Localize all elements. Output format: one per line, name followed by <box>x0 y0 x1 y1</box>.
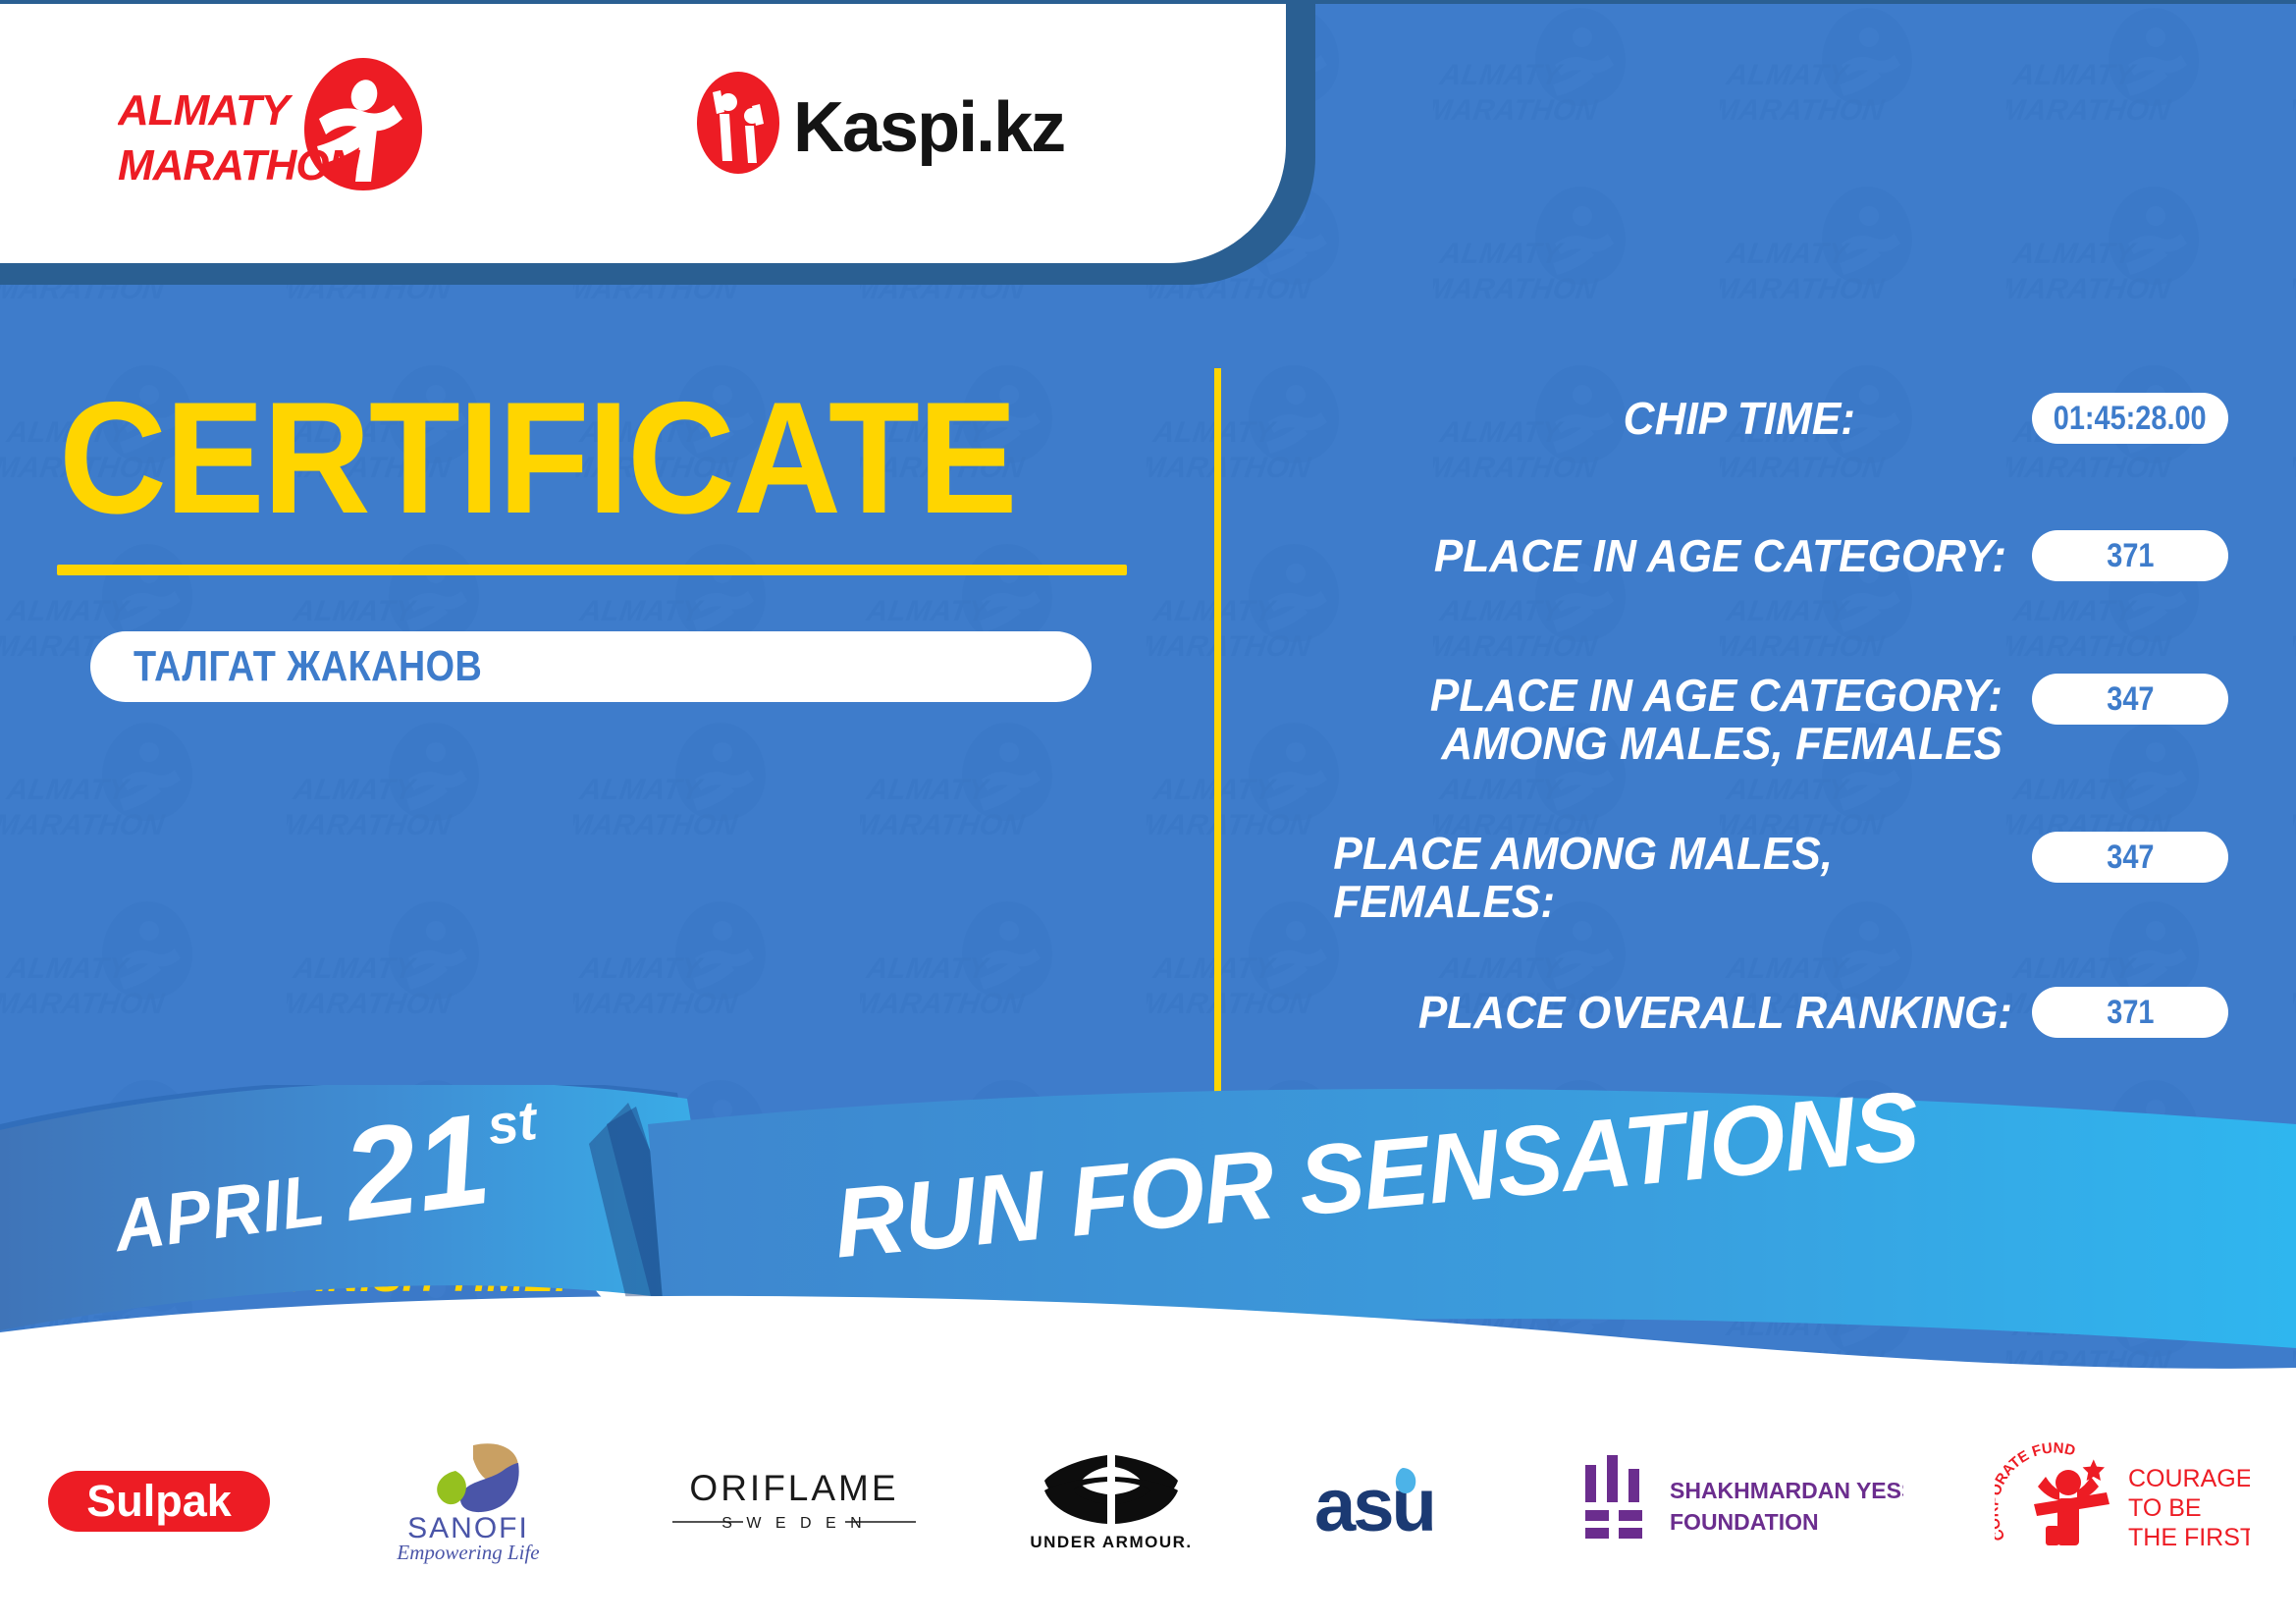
event-day: 21 <box>337 1094 497 1241</box>
stat-row-chip-time: CHIP TIME: 01:45:28.00 <box>1306 393 2228 444</box>
stat-row-place-age-category: PLACE IN AGE CATEGORY: 371 <box>1306 530 2228 581</box>
stat-row-place-among-males-females: PLACE AMONG MALES, FEMALES: 347 <box>1306 830 2228 926</box>
participant-name-field: ТАЛГАТ ЖАКАНОВ <box>90 631 1092 702</box>
sponsor-oriflame: ORIFLAME S W E D E N <box>667 1457 922 1545</box>
stat-label: PLACE IN AGE CATEGORY: <box>1334 532 2006 580</box>
sponsor-sanofi: SANOFI Empowering Life <box>363 1437 574 1565</box>
participant-name: ТАЛГАТ ЖАКАНОВ <box>133 642 482 691</box>
event-day-ordinal: st <box>484 1088 541 1158</box>
stat-label: CHIP TIME: <box>1327 395 1855 443</box>
stat-label: PLACE AMONG MALES, FEMALES: <box>1333 830 2002 926</box>
stat-value: 371 <box>2107 537 2154 575</box>
almaty-wordmark-line2: MARATHON <box>118 141 361 189</box>
sanofi-tagline: Empowering Life <box>397 1541 540 1564</box>
corporate-fund-line1: COURAGE <box>2128 1465 2250 1492</box>
stat-value: 371 <box>2107 994 2154 1032</box>
sponsor-asu: asu <box>1301 1452 1487 1550</box>
title-underline <box>57 565 1127 575</box>
stat-label: PLACE IN AGE CATEGORY: AMONG MALES, FEMA… <box>1333 672 2002 768</box>
corporate-fund-line2: TO BE <box>2128 1494 2202 1522</box>
oriflame-tagline: S W E D E N <box>721 1515 866 1532</box>
sponsor-yessenov-foundation: SHAKHMARDAN YESSENOV FOUNDATION <box>1579 1447 1903 1555</box>
sponsor-corporate-fund: CORPORATE FUND COURAGE TO BE THE FIRST! <box>1995 1437 2250 1565</box>
event-month: APRIL <box>109 1158 330 1268</box>
almaty-marathon-logo: ALMATY MARATHON <box>118 54 442 196</box>
asu-wordmark: asu <box>1314 1464 1434 1547</box>
stat-pill: 01:45:28.00 <box>2032 393 2228 444</box>
stat-pill: 347 <box>2032 674 2228 725</box>
under-armour-wordmark: UNDER ARMOUR. <box>1030 1533 1192 1551</box>
certificate-canvas: ALMATY MARATHON ALMATY MARATHON <box>0 0 2296 1624</box>
sulpak-wordmark: Sulpak <box>86 1476 233 1526</box>
yessenov-line1: SHAKHMARDAN YESSENOV <box>1670 1478 1903 1503</box>
stat-label: PLACE OVERALL RANKING: <box>1315 989 2012 1037</box>
stat-value: 01:45:28.00 <box>2054 400 2207 438</box>
stat-row-place-age-category-among: PLACE IN AGE CATEGORY: AMONG MALES, FEMA… <box>1306 672 2228 768</box>
stat-pill: 371 <box>2032 530 2228 581</box>
stat-row-place-overall-ranking: PLACE OVERALL RANKING: 371 <box>1286 987 2228 1038</box>
stat-pill: 371 <box>2032 987 2228 1038</box>
almaty-wordmark-line1: ALMATY <box>118 86 294 135</box>
stat-value: 347 <box>2107 839 2154 877</box>
sponsor-sulpak: Sulpak <box>46 1457 272 1545</box>
sponsor-under-armour: UNDER ARMOUR. <box>1013 1447 1209 1555</box>
kaspi-wordmark: Kaspi.kz <box>793 88 1064 167</box>
column-divider <box>1214 368 1221 1100</box>
top-accent-dark <box>0 0 2296 4</box>
stat-pill: 347 <box>2032 832 2228 883</box>
corporate-fund-line3: THE FIRST! <box>2128 1524 2250 1551</box>
stat-value: 347 <box>2107 680 2154 719</box>
yessenov-line2: FOUNDATION <box>1670 1509 1819 1535</box>
page-title: CERTIFICATE <box>59 383 1074 534</box>
sponsor-bar: Sulpak SANOFI Empowering Life ORIFLAME S… <box>0 1379 2296 1624</box>
oriflame-wordmark: ORIFLAME <box>689 1468 898 1508</box>
kaspi-logo: Kaspi.kz <box>687 69 1080 177</box>
